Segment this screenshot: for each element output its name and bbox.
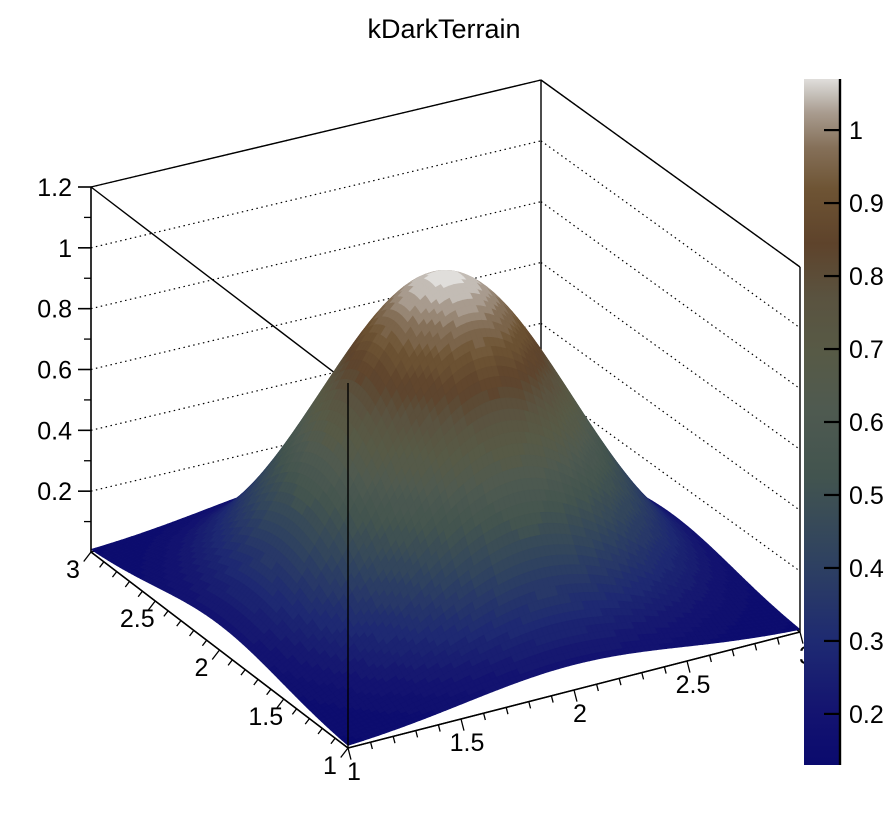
canvas-root: kDarkTerrain 1.210.80.60.40.232.521.5111…: [0, 0, 888, 816]
z-tick-label: 0.6: [37, 357, 72, 385]
y-tick-label: 1: [323, 752, 337, 780]
y-tick-label: 1.5: [248, 703, 283, 731]
colorbar-tick-label: 0.6: [849, 409, 884, 437]
colorbar-tick-label: 0.4: [849, 555, 884, 583]
colorbar-tick-label: 0.7: [849, 336, 884, 364]
colorbar-tick-label: 0.3: [849, 628, 884, 656]
z-tick-label: 0.8: [37, 296, 72, 324]
colorbar-tick-label: 0.5: [849, 482, 884, 510]
surface-plot-scene: 1.210.80.60.40.232.521.5111.522.53 10.90…: [0, 0, 888, 816]
z-tick-label: 1: [58, 235, 72, 263]
z-tick-label: 0.2: [37, 478, 72, 506]
x-tick-label: 1: [347, 758, 361, 786]
y-tick-label: 3: [66, 556, 80, 584]
y-tick-label: 2: [195, 654, 209, 682]
colorbar-tick-label: 0.2: [849, 701, 884, 729]
colorbar-tick-label: 0.8: [849, 263, 884, 291]
colorbar[interactable]: 10.90.80.70.60.50.40.30.2: [804, 79, 884, 765]
z-tick-label: 1.2: [37, 174, 72, 202]
colorbar-tick-label: 0.9: [849, 190, 884, 218]
x-tick-label: 1.5: [450, 729, 485, 757]
y-tick-label: 2.5: [120, 605, 155, 633]
x-tick-label: 2: [573, 700, 587, 728]
colorbar-tick-label: 1: [849, 117, 863, 145]
x-tick-label: 2.5: [676, 671, 711, 699]
z-tick-label: 0.4: [37, 417, 72, 445]
